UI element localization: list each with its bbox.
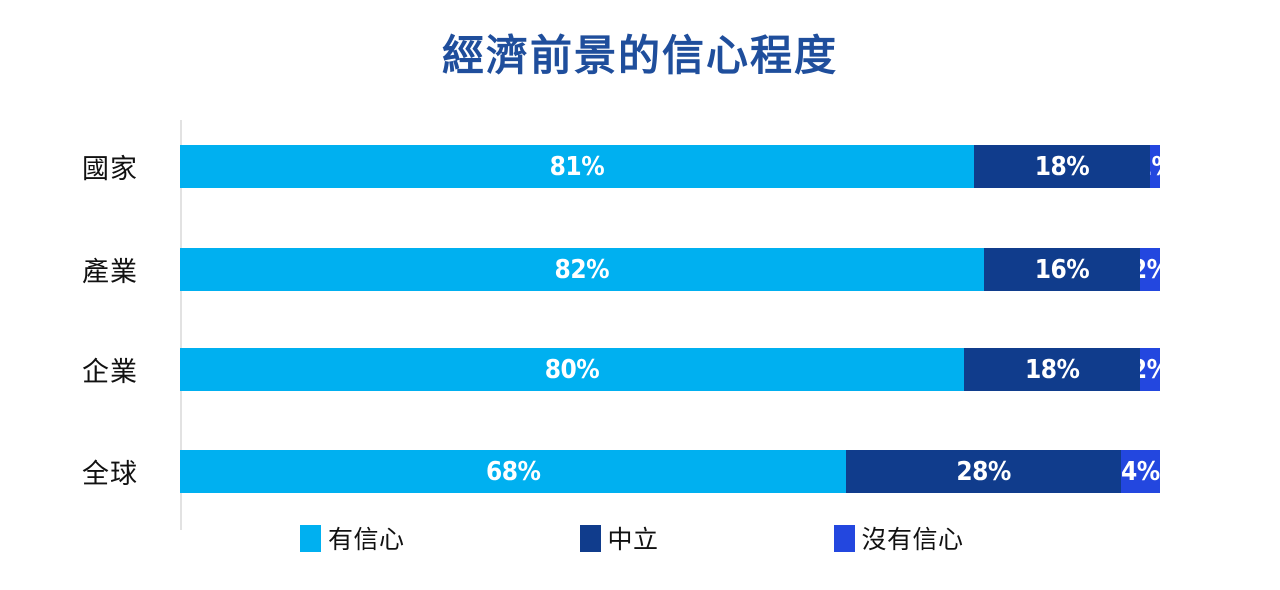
bar-value-label: 28% [956, 457, 1011, 487]
legend-label: 中立 [608, 520, 659, 556]
bar-segment-not-confident: 2% [1140, 348, 1160, 391]
bar-value-label: 81% [550, 152, 605, 182]
bar-row: 68%28%4% [180, 450, 1160, 493]
legend-label: 沒有信心 [862, 520, 964, 556]
plot-area: 81%18%1%82%16%2%80%18%2%68%28%4% [180, 120, 1160, 530]
bar-value-label: 82% [555, 255, 610, 285]
bar-value-label: 16% [1035, 255, 1090, 285]
bar-segment-confident: 80% [180, 348, 964, 391]
bar-value-label: 2% [1140, 255, 1160, 285]
bar-segment-confident: 82% [180, 248, 984, 291]
chart-container: 經濟前景的信心程度 81%18%1%82%16%2%80%18%2%68%28%… [0, 0, 1280, 590]
category-label: 全球 [50, 452, 170, 491]
bar-segment-neutral: 28% [846, 450, 1120, 493]
category-label: 企業 [50, 350, 170, 389]
bar-segment-confident: 81% [180, 145, 974, 188]
bar-segment-confident: 68% [180, 450, 846, 493]
bar-row: 81%18%1% [180, 145, 1160, 188]
bar-value-label: 1% [1150, 152, 1160, 182]
bar-value-label: 80% [545, 355, 600, 385]
bar-segment-neutral: 18% [964, 348, 1140, 391]
bar-segment-neutral: 18% [974, 145, 1150, 188]
legend-item[interactable]: 中立 [580, 520, 659, 556]
legend-item[interactable]: 沒有信心 [834, 520, 964, 556]
bar-value-label: 2% [1140, 355, 1160, 385]
category-label: 產業 [50, 250, 170, 289]
bar-value-label: 18% [1035, 152, 1090, 182]
bar-row: 80%18%2% [180, 348, 1160, 391]
bar-value-label: 68% [486, 457, 541, 487]
chart-title: 經濟前景的信心程度 [0, 22, 1280, 83]
legend-swatch-not-confident [834, 525, 855, 552]
bar-segment-not-confident: 4% [1121, 450, 1160, 493]
legend-item[interactable]: 有信心 [300, 520, 405, 556]
bar-row: 82%16%2% [180, 248, 1160, 291]
legend-label: 有信心 [328, 520, 405, 556]
bar-segment-not-confident: 1% [1150, 145, 1160, 188]
legend-swatch-confident [300, 525, 321, 552]
bar-value-label: 18% [1025, 355, 1080, 385]
bar-segment-not-confident: 2% [1140, 248, 1160, 291]
category-label: 國家 [50, 147, 170, 186]
chart-legend: 有信心中立沒有信心 [300, 518, 964, 558]
legend-swatch-neutral [580, 525, 601, 552]
bar-segment-neutral: 16% [984, 248, 1141, 291]
bar-value-label: 4% [1121, 457, 1160, 487]
